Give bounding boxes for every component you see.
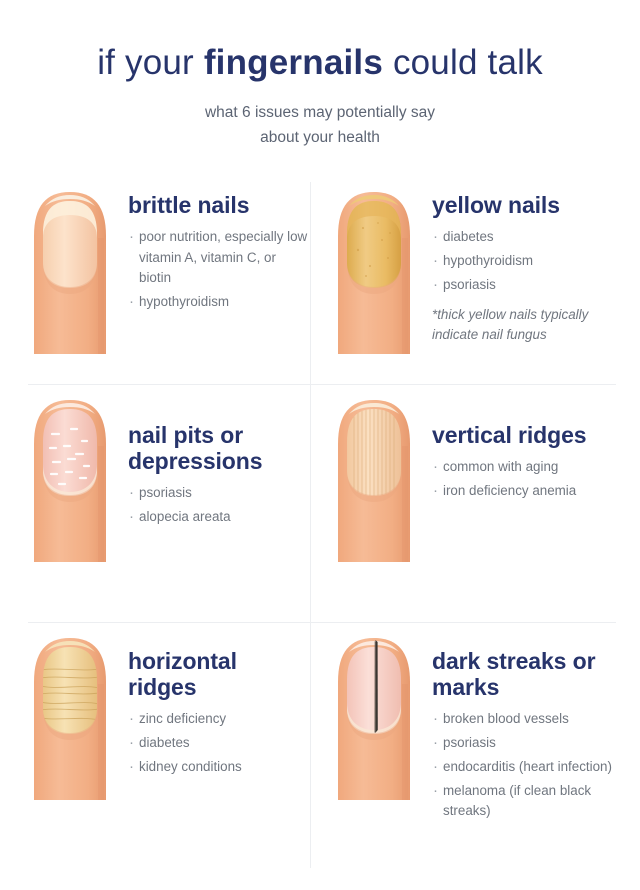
panel-bullet-list: common with aging iron deficiency anemia: [432, 457, 622, 501]
nail-illustration-vertical-ridges: [330, 396, 418, 571]
bullet-item: iron deficiency anemia: [432, 481, 622, 501]
panel-bullet-list: poor nutrition, especially low vitamin A…: [128, 227, 310, 312]
panel-body: horizontal ridges zinc deficiency diabet…: [128, 634, 310, 781]
bullet-item: broken blood vessels: [432, 709, 622, 729]
panel-heading: yellow nails: [432, 192, 622, 218]
panel-bullet-list: diabetes hypothyroidism psoriasis: [432, 227, 622, 295]
bullet-item: diabetes: [128, 733, 310, 753]
horizontal-divider-2: [28, 622, 616, 623]
vertical-divider: [310, 182, 311, 868]
panel-heading: horizontal ridges: [128, 648, 310, 700]
subtitle-line-2: about your health: [0, 125, 640, 151]
bullet-item: psoriasis: [432, 733, 622, 753]
panel-nail-pits: nail pits or depressions psoriasis alope…: [26, 396, 310, 571]
panel-heading: brittle nails: [128, 192, 310, 218]
panel-vertical-ridges: vertical ridges common with aging iron d…: [330, 396, 622, 571]
panel-heading: vertical ridges: [432, 422, 622, 448]
panel-yellow-nails: yellow nails diabetes hypothyroidism pso…: [330, 188, 622, 363]
nail-illustration-pitted: [26, 396, 114, 571]
nail-illustration-plain: [26, 188, 114, 363]
panel-bullet-list: psoriasis alopecia areata: [128, 483, 310, 527]
nail-illustration-horizontal-ridges: [26, 634, 114, 809]
panel-body: yellow nails diabetes hypothyroidism pso…: [432, 188, 622, 346]
panel-body: nail pits or depressions psoriasis alope…: [128, 396, 310, 531]
bullet-item: hypothyroidism: [128, 292, 310, 312]
infographic-header: if your fingernails could talk what 6 is…: [0, 0, 640, 151]
horizontal-divider-1: [28, 384, 616, 385]
panel-dark-streaks: dark streaks or marks broken blood vesse…: [330, 634, 622, 825]
panel-bullet-list: broken blood vessels psoriasis endocardi…: [432, 709, 622, 821]
title-text-part2: could talk: [383, 43, 543, 82]
bullet-item: zinc deficiency: [128, 709, 310, 729]
panel-heading: dark streaks or marks: [432, 648, 622, 700]
bullet-item: melanoma (if clean black streaks): [432, 781, 622, 822]
panel-brittle-nails: brittle nails poor nutrition, especially…: [26, 188, 310, 363]
bullet-item: diabetes: [432, 227, 622, 247]
bullet-item: alopecia areata: [128, 507, 310, 527]
panel-body: vertical ridges common with aging iron d…: [432, 396, 622, 505]
bullet-item: common with aging: [432, 457, 622, 477]
bullet-item: poor nutrition, especially low vitamin A…: [128, 227, 310, 288]
panel-heading: nail pits or depressions: [128, 422, 310, 474]
bullet-item: endocarditis (heart infection): [432, 757, 622, 777]
bullet-item: psoriasis: [432, 275, 622, 295]
bullet-item: hypothyroidism: [432, 251, 622, 271]
panel-footnote: *thick yellow nails typically indicate n…: [432, 305, 622, 345]
subtitle-line-1: what 6 issues may potentially say: [0, 100, 640, 126]
bullet-item: psoriasis: [128, 483, 310, 503]
panel-body: brittle nails poor nutrition, especially…: [128, 188, 310, 316]
nail-illustration-yellow: [330, 188, 418, 363]
panel-body: dark streaks or marks broken blood vesse…: [432, 634, 622, 825]
page-subtitle: what 6 issues may potentially say about …: [0, 100, 640, 151]
page-title: if your fingernails could talk: [0, 44, 640, 83]
title-text-part1: if your: [97, 43, 204, 82]
bullet-item: kidney conditions: [128, 757, 310, 777]
panel-grid: brittle nails poor nutrition, especially…: [0, 180, 640, 870]
panel-horizontal-ridges: horizontal ridges zinc deficiency diabet…: [26, 634, 310, 809]
nail-illustration-dark-streak: [330, 634, 418, 809]
panel-bullet-list: zinc deficiency diabetes kidney conditio…: [128, 709, 310, 777]
title-emphasis: fingernails: [204, 43, 383, 82]
